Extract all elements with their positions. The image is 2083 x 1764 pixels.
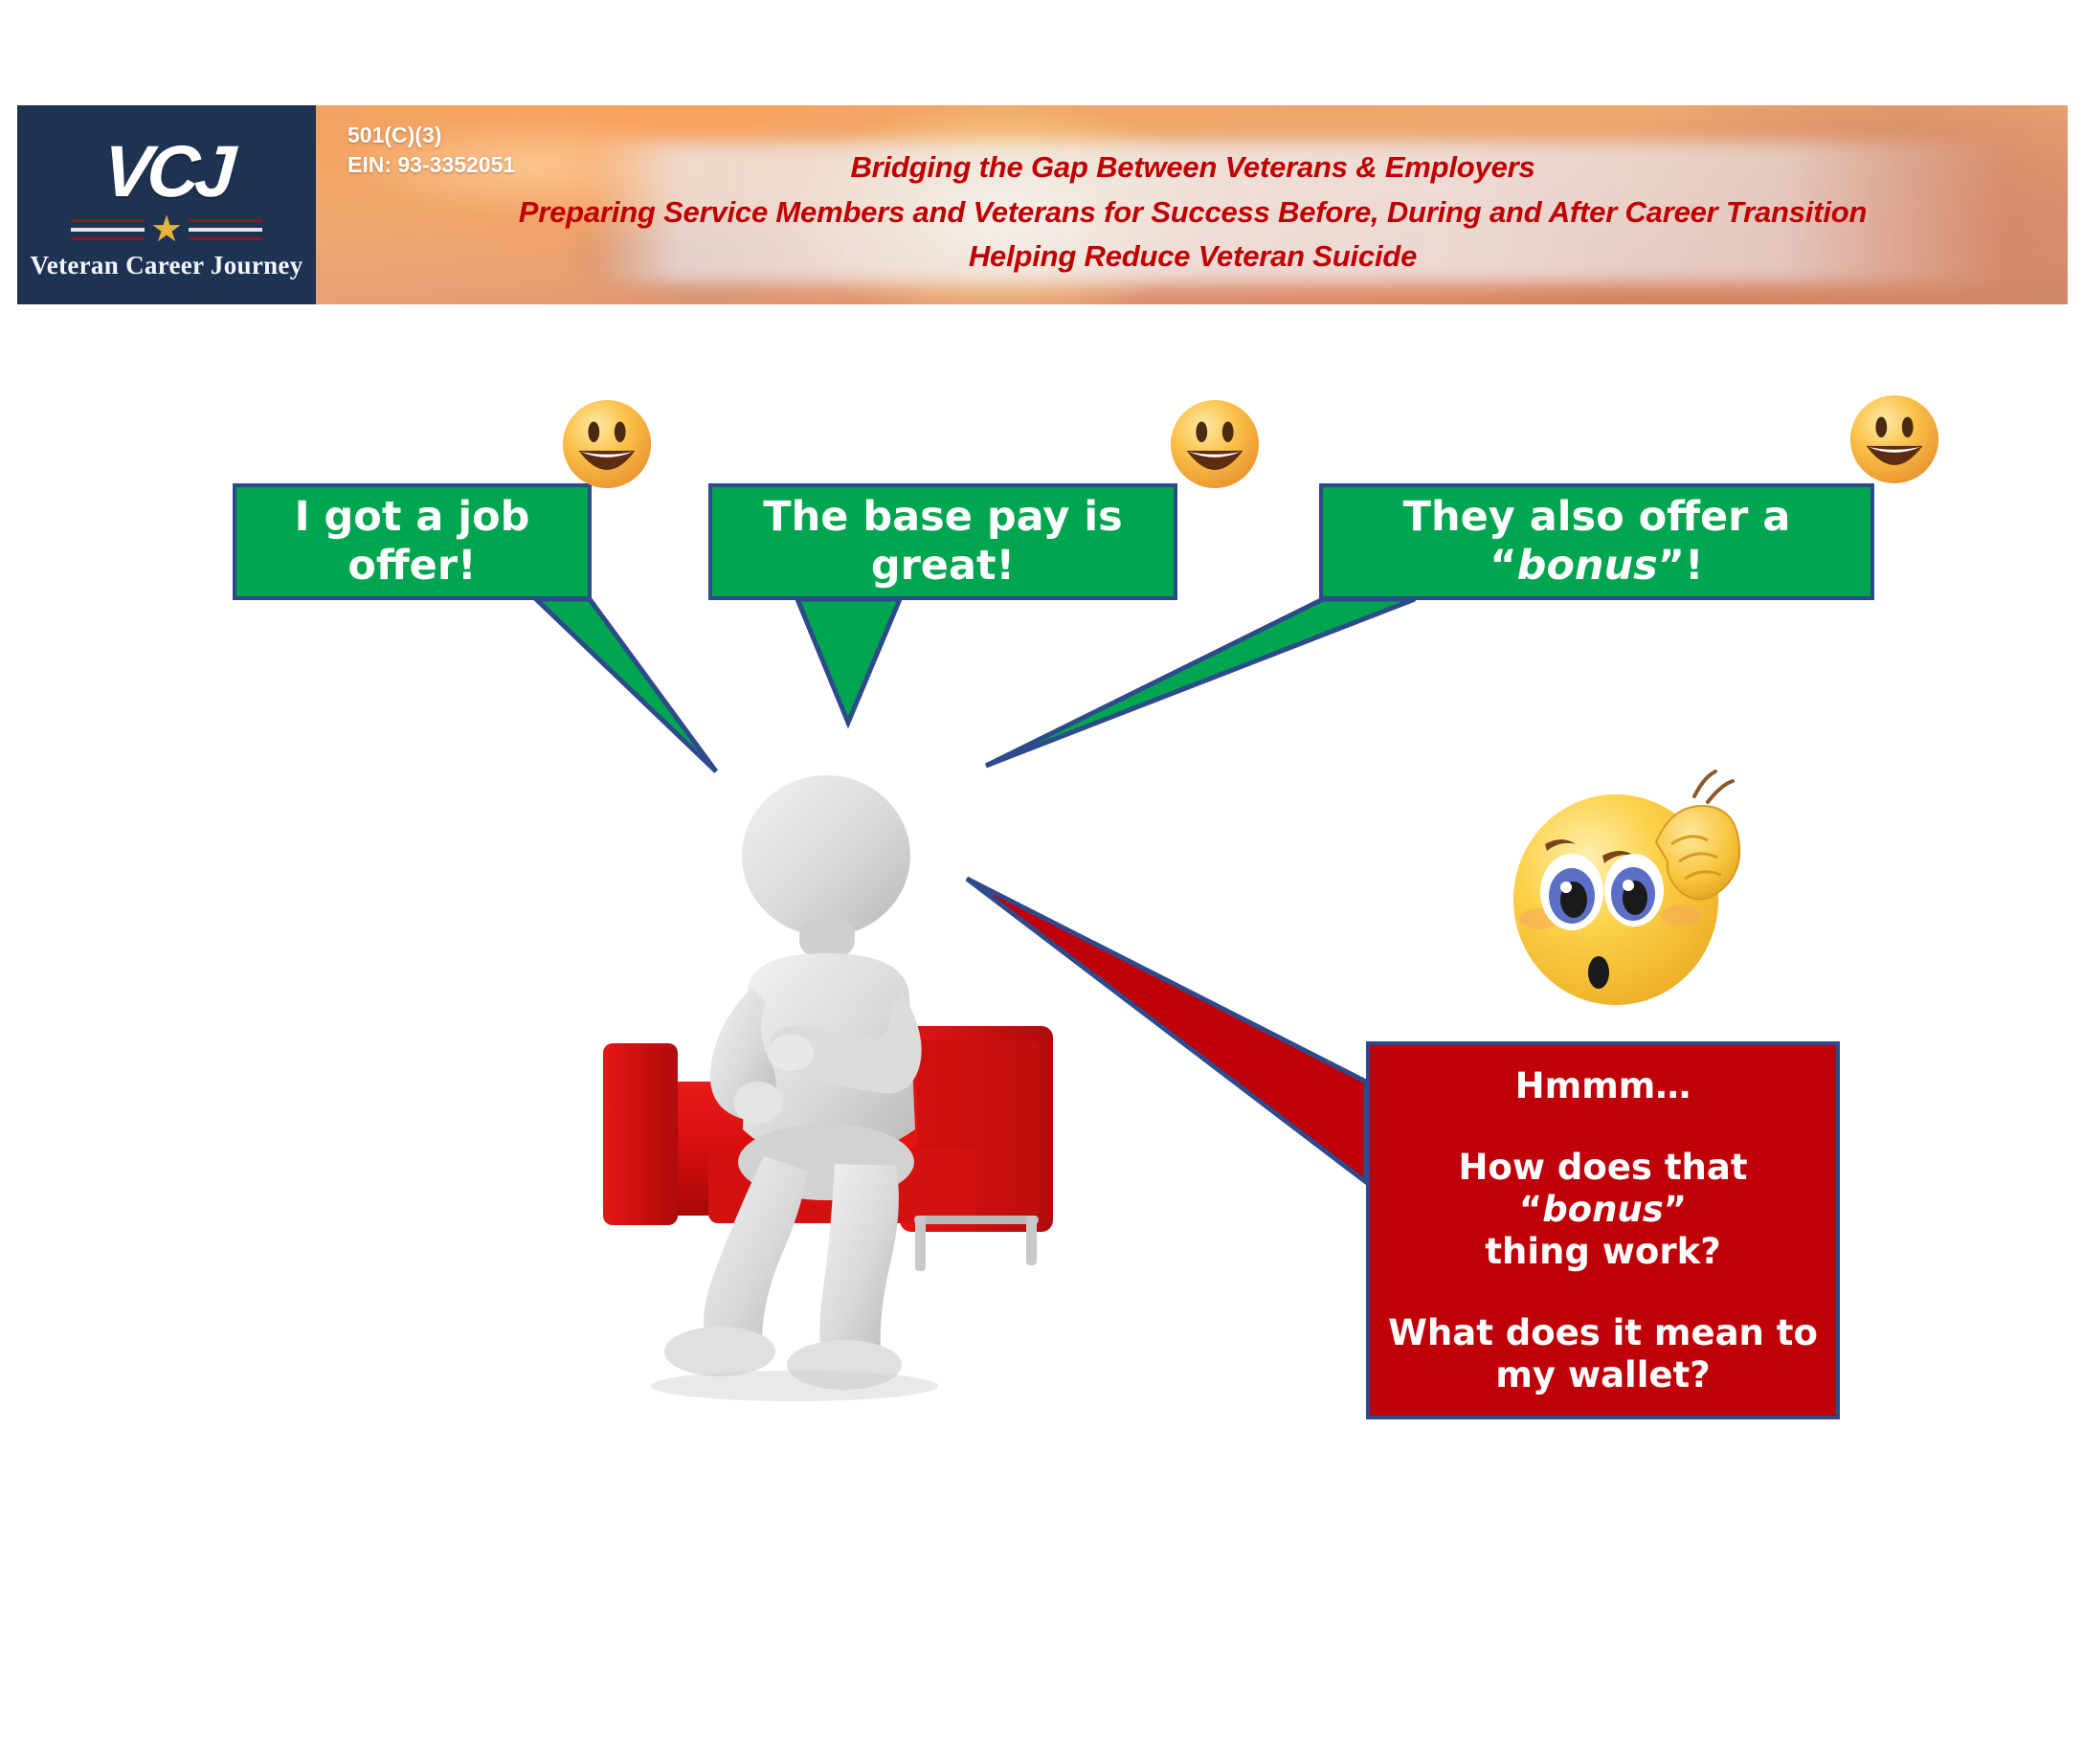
question-line-2a: What does it mean to <box>1383 1312 1823 1354</box>
speech-bubble-job-offer: I got a job offer! <box>233 483 592 600</box>
tail-job-offer <box>536 599 716 771</box>
bubble-line-2: offer! <box>295 542 530 591</box>
logo-initials: VCJ <box>101 136 233 209</box>
thinking-confused-face-icon <box>1503 756 1761 1024</box>
spacer-1 <box>1383 1106 1823 1147</box>
bubble-line-1: The base pay is <box>763 493 1122 542</box>
speech-bubble-base-pay: The base pay is great! <box>708 483 1177 600</box>
quote-open: “ <box>1489 542 1516 590</box>
logo-tagline: Veteran Career Journey <box>30 251 302 280</box>
bubble-line-1: They also offer a <box>1403 493 1791 542</box>
bonus-emphasis: bonus <box>1542 1189 1664 1230</box>
grinning-face-icon <box>1848 392 1941 486</box>
bubble-line-2: “bonus”! <box>1403 542 1791 591</box>
banner-headlines: Bridging the Gap Between Veterans & Empl… <box>333 145 2052 279</box>
question-line-1b: thing work? <box>1383 1231 1823 1273</box>
logo-stripes: ★ <box>71 214 262 245</box>
grinning-face-icon <box>560 397 654 491</box>
star-icon: ★ <box>150 212 183 248</box>
speech-bubble-bonus-offer: They also offer a “bonus”! <box>1319 483 1874 600</box>
headline-line-3: Helping Reduce Veteran Suicide <box>333 234 2052 279</box>
headline-line-2: Preparing Service Members and Veterans f… <box>333 190 2052 235</box>
question-hmmm: Hmmm… <box>1383 1065 1823 1107</box>
question-line-2b: my wallet? <box>1383 1354 1823 1396</box>
bubble-line-1: I got a job <box>295 493 530 542</box>
header-banner: VCJ ★ Veteran Career Journey 501(C)(3) E… <box>17 105 2068 304</box>
headline-line-1: Bridging the Gap Between Veterans & Empl… <box>333 145 2052 190</box>
seated-mannequin-in-armchair <box>594 766 1091 1417</box>
tail-bonus-offer <box>986 599 1415 766</box>
question-suffix: ” <box>1664 1189 1687 1230</box>
spacer-2 <box>1383 1272 1823 1312</box>
grinning-face-icon <box>1168 397 1262 491</box>
bonus-emphasis: bonus <box>1517 542 1658 590</box>
vcj-logo: VCJ ★ Veteran Career Journey <box>17 105 316 304</box>
quote-close: ”! <box>1658 542 1704 590</box>
bubble-line-2: great! <box>763 542 1122 591</box>
question-line-1a: How does that “bonus” <box>1383 1147 1823 1230</box>
tail-base-pay <box>797 599 900 723</box>
question-box-bonus: Hmmm… How does that “bonus” thing work? … <box>1366 1041 1840 1419</box>
